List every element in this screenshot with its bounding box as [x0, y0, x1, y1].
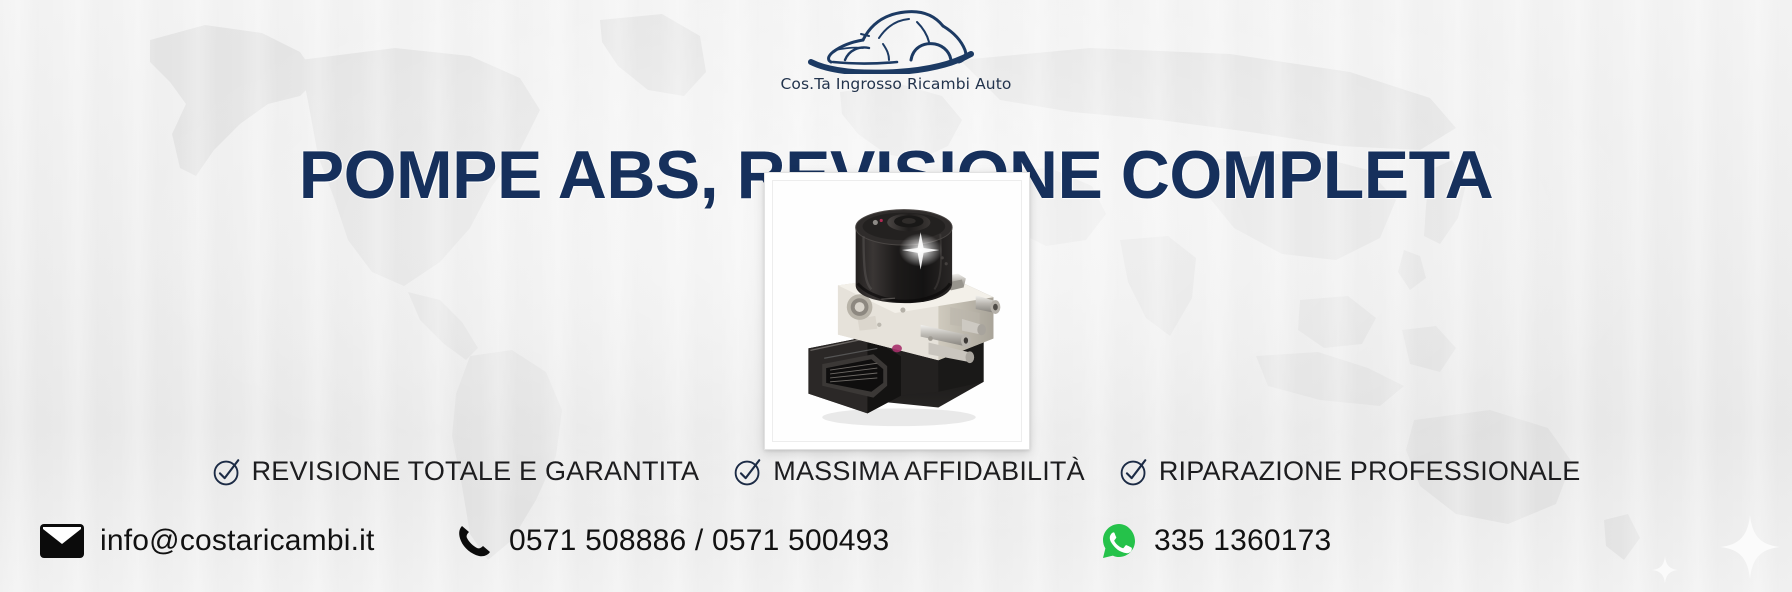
contact-email-value: info@costaricambi.it [100, 524, 375, 558]
brand-logo[interactable]: Cos.Ta Ingrosso Ricambi Auto [0, 2, 1792, 93]
product-photo-frame[interactable] [764, 172, 1030, 450]
feature-item-revisione: REVISIONE TOTALE E GARANTITA [212, 456, 700, 487]
check-circle-icon [212, 457, 242, 487]
abs-pump-photo [772, 180, 1022, 442]
feature-label: RIPARAZIONE PROFESSIONALE [1159, 456, 1581, 487]
phone-handset-icon [455, 522, 493, 560]
promo-banner: Cos.Ta Ingrosso Ricambi Auto POMPE ABS, … [0, 0, 1792, 592]
feature-list: REVISIONE TOTALE E GARANTITA MASSIMA AFF… [0, 456, 1792, 487]
brand-name: Cos.Ta Ingrosso Ricambi Auto [780, 75, 1011, 93]
contact-whatsapp-value: 335 1360173 [1154, 524, 1331, 558]
contact-email[interactable]: info@costaricambi.it [40, 524, 375, 558]
contact-phone[interactable]: 0571 508886 / 0571 500493 [455, 522, 889, 560]
contact-bar: info@costaricambi.it 0571 508886 / 0571 … [0, 510, 1792, 572]
sports-car-sketch-icon [801, 2, 991, 74]
contact-phone-value: 0571 508886 / 0571 500493 [509, 524, 889, 558]
check-circle-icon [733, 457, 763, 487]
feature-label: REVISIONE TOTALE E GARANTITA [252, 456, 700, 487]
feature-item-affidabilita: MASSIMA AFFIDABILITÀ [733, 456, 1085, 487]
contact-whatsapp[interactable]: 335 1360173 [1100, 522, 1331, 560]
envelope-icon [40, 524, 84, 558]
feature-label: MASSIMA AFFIDABILITÀ [773, 456, 1085, 487]
whatsapp-icon [1100, 522, 1138, 560]
feature-item-riparazione: RIPARAZIONE PROFESSIONALE [1119, 456, 1581, 487]
check-circle-icon [1119, 457, 1149, 487]
